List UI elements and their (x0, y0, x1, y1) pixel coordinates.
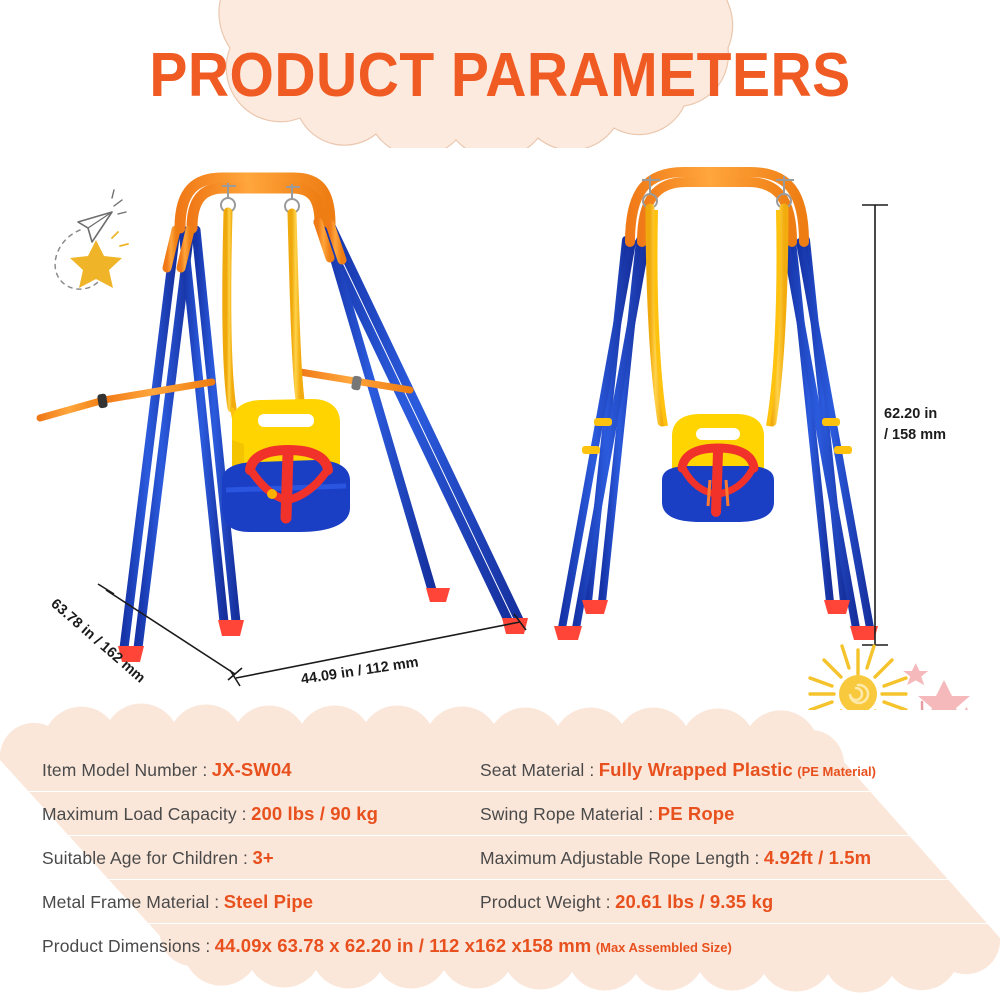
dimension-height-line2: / 158 mm (884, 427, 946, 443)
spec-cell-left: Item Model Number : JX-SW04 (0, 759, 470, 781)
spec-label: Suitable Age for Children : (42, 848, 248, 868)
spec-label: Product Weight : (480, 892, 611, 912)
spec-value: 200 lbs / 90 kg (251, 803, 378, 824)
spec-label: Maximum Load Capacity : (42, 804, 247, 824)
table-row: Item Model Number : JX-SW04 Seat Materia… (0, 748, 1000, 792)
spec-value: 3+ (252, 847, 273, 868)
spec-value: Steel Pipe (224, 891, 313, 912)
table-row-dimensions: Product Dimensions : 44.09x 63.78 x 62.2… (0, 924, 1000, 967)
spec-note: (PE Material) (797, 764, 876, 779)
spec-cell-left: Metal Frame Material : Steel Pipe (0, 891, 470, 913)
spec-cell-right: Maximum Adjustable Rope Length : 4.92ft … (470, 847, 960, 869)
spec-label: Maximum Adjustable Rope Length : (480, 848, 759, 868)
swing-set-perspective-view (40, 178, 528, 662)
table-row: Maximum Load Capacity : 200 lbs / 90 kg … (0, 792, 1000, 836)
spec-value: Fully Wrapped Plastic (599, 759, 793, 780)
spec-cell-full: Product Dimensions : 44.09x 63.78 x 62.2… (0, 935, 1000, 957)
spec-value: PE Rope (658, 803, 735, 824)
spec-cell-right: Seat Material : Fully Wrapped Plastic (P… (470, 759, 960, 781)
spec-value: 44.09x 63.78 x 62.20 in / 112 x162 x158 … (215, 935, 592, 956)
infographic-root: PRODUCT PARAMETERS (0, 0, 1000, 1000)
spec-value: JX-SW04 (212, 759, 292, 780)
spec-table: Item Model Number : JX-SW04 Seat Materia… (0, 748, 1000, 967)
spec-note: (Max Assembled Size) (596, 940, 732, 955)
table-row: Metal Frame Material : Steel Pipe Produc… (0, 880, 1000, 924)
dimension-height-line1: 62.20 in (884, 406, 937, 422)
spec-label: Swing Rope Material : (480, 804, 653, 824)
table-row: Suitable Age for Children : 3+ Maximum A… (0, 836, 1000, 880)
swing-set-front-view (554, 172, 878, 640)
dimension-height-label: 62.20 in / 158 mm (884, 404, 946, 446)
foot-cap (118, 588, 528, 662)
star-doodle (70, 232, 128, 288)
spec-label: Item Model Number : (42, 760, 207, 780)
foot-cap (554, 600, 878, 640)
page-title: PRODUCT PARAMETERS (40, 40, 960, 111)
spec-cell-right: Swing Rope Material : PE Rope (470, 803, 960, 825)
product-illustration (0, 150, 1000, 710)
spec-label: Seat Material : (480, 760, 594, 780)
spec-cell-right: Product Weight : 20.61 lbs / 9.35 kg (470, 891, 960, 913)
spec-label: Metal Frame Material : (42, 892, 219, 912)
spec-cell-left: Maximum Load Capacity : 200 lbs / 90 kg (0, 803, 470, 825)
spec-label: Product Dimensions : (42, 936, 210, 956)
spec-value: 4.92ft / 1.5m (764, 847, 871, 868)
spec-cell-left: Suitable Age for Children : 3+ (0, 847, 470, 869)
spec-value: 20.61 lbs / 9.35 kg (615, 891, 773, 912)
